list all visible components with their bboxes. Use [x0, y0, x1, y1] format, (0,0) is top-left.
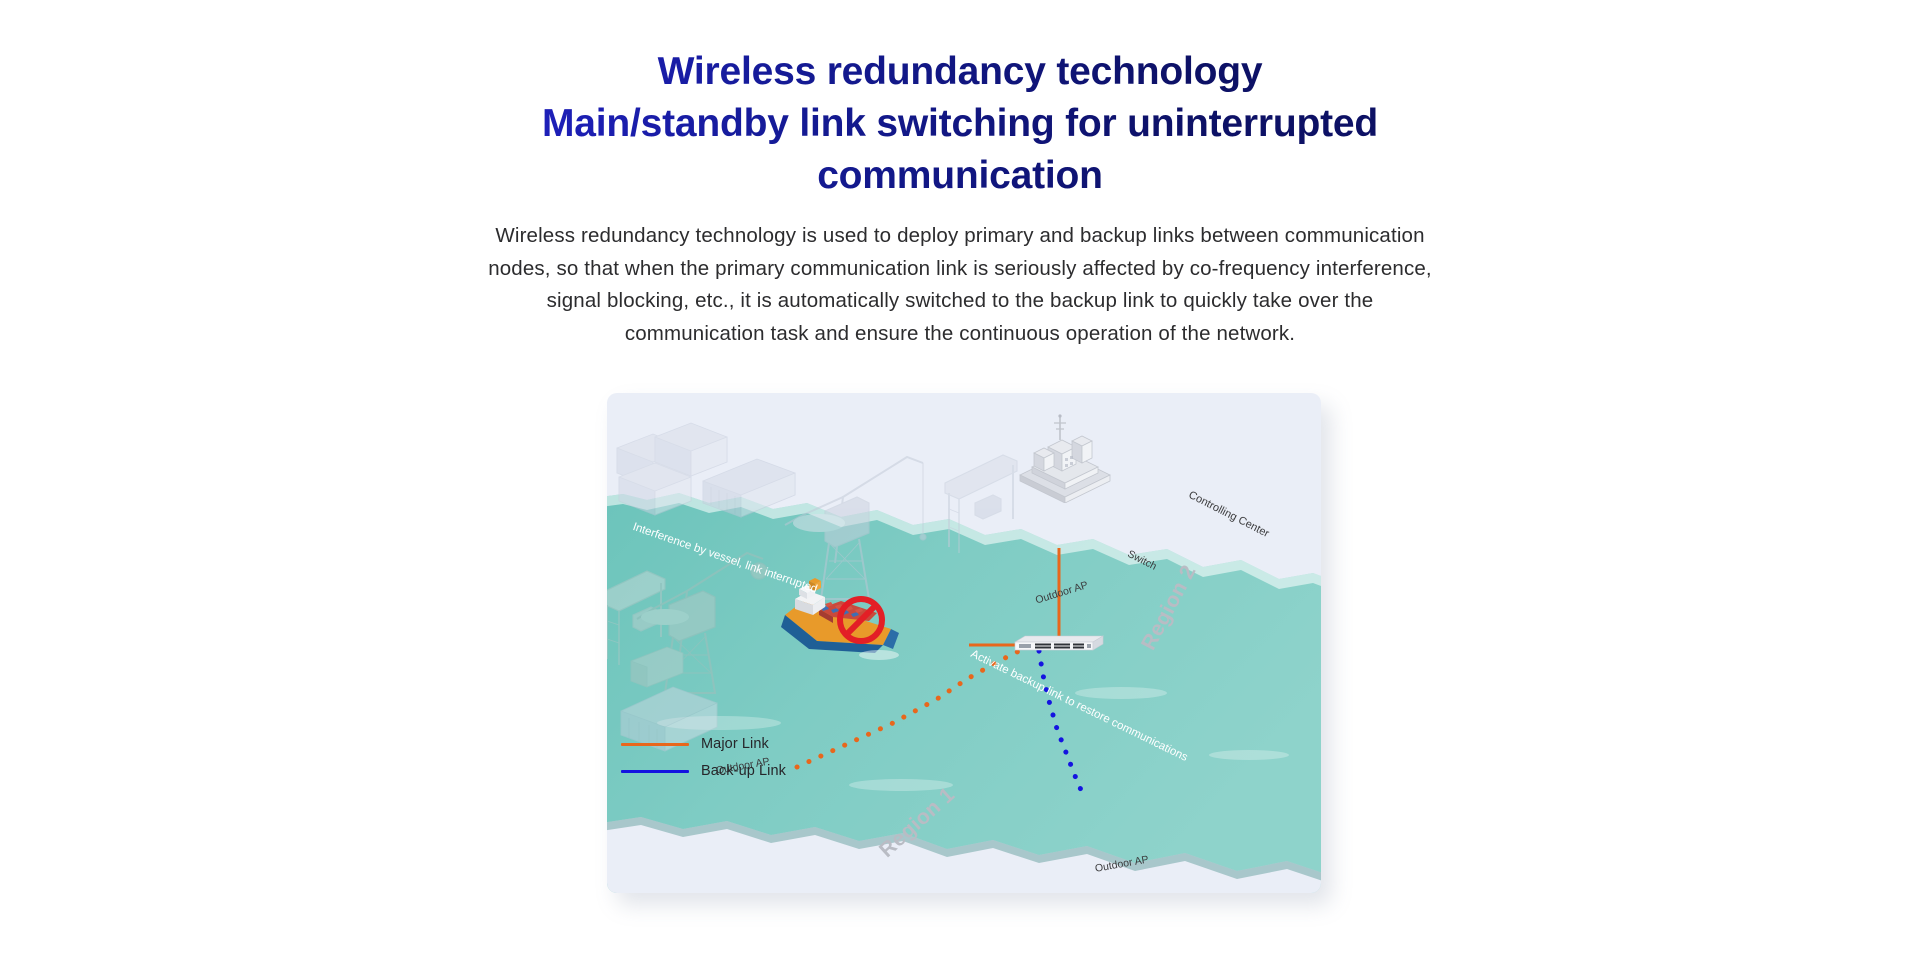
- heading-block: Wireless redundancy technology Main/stan…: [0, 46, 1920, 350]
- page-title: Wireless redundancy technology Main/stan…: [0, 46, 1920, 202]
- diagram-legend: Major Link Back-up Link: [621, 736, 786, 779]
- page-root: Wireless redundancy technology Main/stan…: [0, 0, 1920, 963]
- network-switch-icon: [1011, 633, 1107, 657]
- legend-swatch-major-link: [621, 743, 689, 746]
- network-diagram-figure: Controlling Center Switch Outdoor AP Out…: [607, 393, 1321, 893]
- major-link-dotted: [797, 647, 1027, 767]
- diagram-card: Controlling Center Switch Outdoor AP Out…: [607, 393, 1321, 893]
- legend-label-major-link: Major Link: [701, 736, 769, 752]
- control-center-building-icon: [1010, 413, 1120, 503]
- prohibition-sign-icon: [836, 595, 886, 645]
- legend-item-backup-link: Back-up Link: [621, 763, 786, 779]
- legend-item-major-link: Major Link: [621, 736, 786, 752]
- legend-label-backup-link: Back-up Link: [701, 763, 786, 779]
- backup-link-dotted: [1039, 651, 1085, 799]
- network-links: [607, 393, 1321, 893]
- page-title-line-2: Main/standby link switching for uninterr…: [0, 98, 1920, 150]
- page-title-line-1: Wireless redundancy technology: [0, 46, 1920, 98]
- page-title-line-3: communication: [0, 150, 1920, 202]
- legend-swatch-backup-link: [621, 770, 689, 773]
- page-subtitle: Wireless redundancy technology is used t…: [480, 220, 1440, 350]
